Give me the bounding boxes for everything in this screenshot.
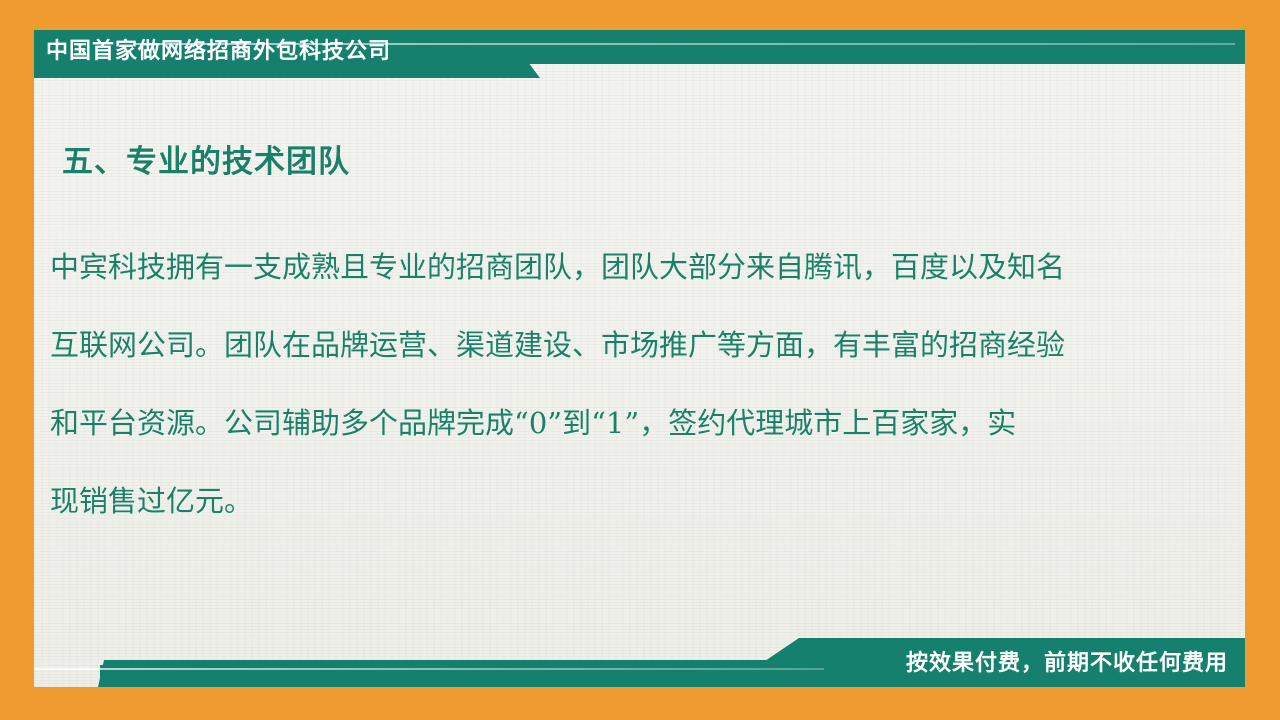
body-line: 互联网公司。团队在品牌运营、渠道建设、市场推广等方面，有丰富的招商经验 — [50, 306, 1190, 384]
header-title: 中国首家做网络招商外包科技公司 — [46, 36, 391, 66]
page-title: 五、专业的技术团队 — [62, 136, 350, 181]
body-paragraph: 中宾科技拥有一支成熟且专业的招商团队，团队大部分来自腾讯，百度以及知名 互联网公… — [50, 228, 1190, 540]
body-line: 和平台资源。公司辅助多个品牌完成“0”到“1”，签约代理城市上百家家，实 — [50, 384, 1190, 462]
slide-canvas: 中国首家做网络招商外包科技公司 五、专业的技术团队 中宾科技拥有一支成熟且专业的… — [0, 0, 1280, 720]
body-line: 现销售过亿元。 — [50, 462, 1190, 540]
footer-divider-line — [34, 668, 824, 670]
footer-tagline: 按效果付费，前期不收任何费用 — [906, 648, 1228, 678]
body-line: 中宾科技拥有一支成熟且专业的招商团队，团队大部分来自腾讯，百度以及知名 — [50, 228, 1190, 306]
